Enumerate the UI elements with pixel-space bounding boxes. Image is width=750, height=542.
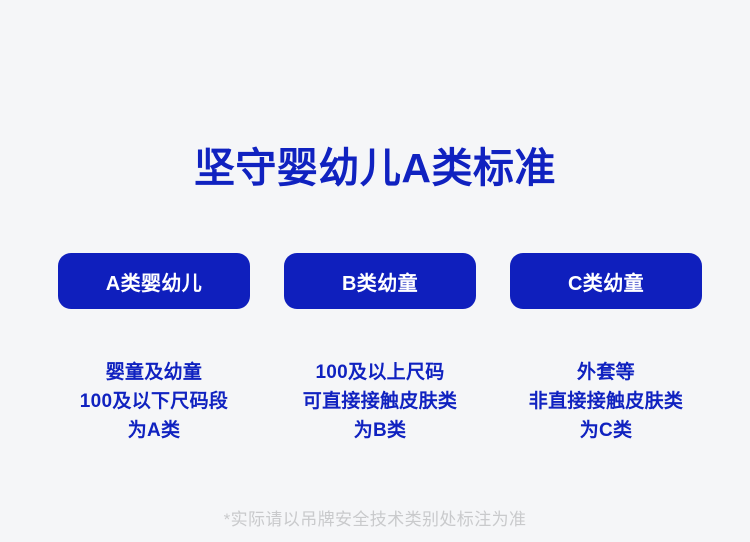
description-line: 为A类 xyxy=(58,416,250,445)
category-description-a: 婴童及幼童 100及以下尺码段 为A类 xyxy=(58,358,250,445)
description-line: 为B类 xyxy=(284,416,476,445)
footnote-disclaimer: *实际请以吊牌安全技术类别处标注为准 xyxy=(0,505,750,530)
description-line: 非直接接触皮肤类 xyxy=(510,387,702,416)
category-pill-b[interactable]: B类幼童 xyxy=(284,253,476,309)
category-description-row: 婴童及幼童 100及以下尺码段 为A类 100及以上尺码 可直接接触皮肤类 为B… xyxy=(58,358,702,445)
category-pill-row: A类婴幼儿 B类幼童 C类幼童 xyxy=(58,253,702,309)
page-title: 坚守婴幼儿A类标准 xyxy=(0,139,750,197)
description-line: 婴童及幼童 xyxy=(58,358,250,387)
category-description-b: 100及以上尺码 可直接接触皮肤类 为B类 xyxy=(284,358,476,445)
description-line: 100及以下尺码段 xyxy=(58,387,250,416)
description-line: 为C类 xyxy=(510,416,702,445)
category-pill-a[interactable]: A类婴幼儿 xyxy=(58,253,250,309)
category-pill-c[interactable]: C类幼童 xyxy=(510,253,702,309)
description-line: 外套等 xyxy=(510,358,702,387)
description-line: 100及以上尺码 xyxy=(284,358,476,387)
infographic-page: 坚守婴幼儿A类标准 A类婴幼儿 B类幼童 C类幼童 婴童及幼童 100及以下尺码… xyxy=(0,0,750,542)
category-description-c: 外套等 非直接接触皮肤类 为C类 xyxy=(510,358,702,445)
description-line: 可直接接触皮肤类 xyxy=(284,387,476,416)
